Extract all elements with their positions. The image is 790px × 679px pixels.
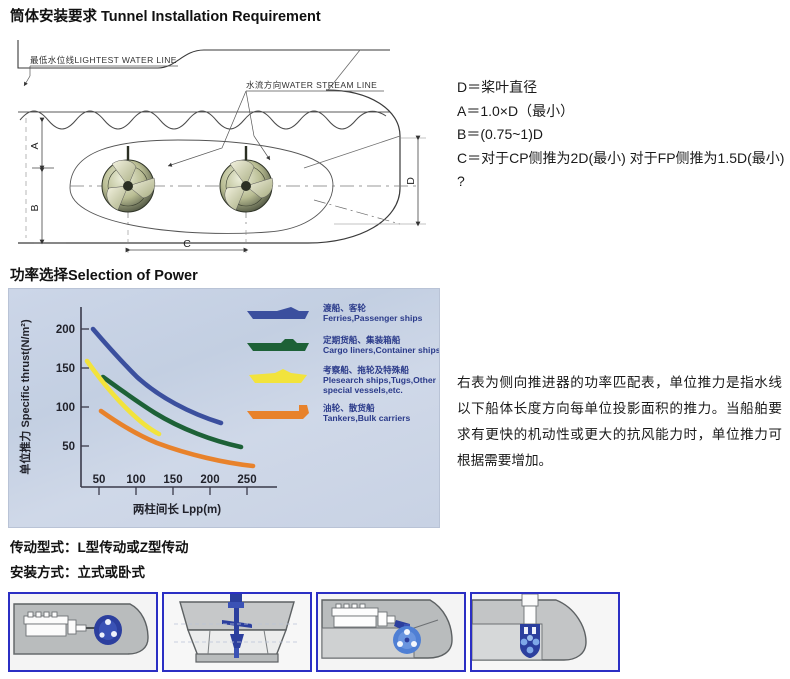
- installation-thumbnail-row: [8, 592, 620, 672]
- label-water-stream-line: 水流方向WATER STREAM LINE: [246, 80, 377, 90]
- formula-a: A＝1.0×D（最小）: [457, 100, 787, 124]
- formula-question: ?: [457, 170, 787, 194]
- page-title-selection-of-power: 功率选择Selection of Power: [10, 264, 198, 285]
- dimension-label-a: A: [29, 142, 41, 149]
- formula-c: C＝对于CP侧推为2D(最小) 对于FP侧推为1.5D(最小): [457, 147, 787, 171]
- label-lightest-water-line: 最低水位线LIGHTEST WATER LINE: [30, 55, 177, 65]
- chart-series-ferries-passenger: [93, 329, 221, 423]
- dimension-label-b: B: [29, 204, 41, 211]
- chart-legend: 渡船、客轮 Ferries,Passenger ships 定期货船、集装箱船 …: [247, 302, 440, 423]
- chart-xtick-150: 150: [163, 474, 182, 486]
- legend-label-en-3b: special vessels,etc.: [323, 385, 403, 395]
- chart-ytick-50: 50: [62, 441, 75, 453]
- thumbnail-vertical-z-drive-section[interactable]: [162, 592, 312, 672]
- legend-item-research-tugs: 考察船、拖轮及特殊船 Plesearch ships,Tugs,Other sp…: [249, 364, 437, 395]
- chart-x-axis-label: 两柱间长 Lpp(m): [133, 502, 221, 516]
- legend-label-en-2: Cargo liners,Container ships: [323, 345, 440, 355]
- legend-item-cargo-container: 定期货船、集装箱船 Cargo liners,Container ships: [247, 334, 440, 355]
- thumbnail-horizontal-l-drive-bow-thruster[interactable]: [8, 592, 158, 672]
- thumbnail-horizontal-engine-angled-drive[interactable]: [316, 592, 466, 672]
- specific-thrust-chart: 200 150 100 50 单位推力 Specific thrust(N/m²…: [8, 288, 440, 528]
- legend-label-en-3: Plesearch ships,Tugs,Other: [323, 375, 437, 385]
- legend-label-cn-2: 定期货船、集装箱船: [323, 334, 401, 345]
- page-title-tunnel-installation: 筒体安装要求 Tunnel Installation Requirement: [10, 5, 321, 26]
- legend-label-en-4: Tankers,Bulk carriers: [323, 413, 410, 423]
- chart-ytick-200: 200: [56, 324, 75, 336]
- chart-series-tankers-bulk: [101, 411, 253, 466]
- dimension-label-c: C: [183, 238, 191, 250]
- chart-ytick-150: 150: [56, 363, 75, 375]
- formula-d: D＝桨叶直径: [457, 76, 787, 100]
- thumbnail-vertical-mounted-thruster[interactable]: [470, 592, 620, 672]
- chart-y-axis-label: 单位推力 Specific thrust(N/m²): [18, 319, 32, 475]
- thruster-propeller-left: [102, 146, 155, 212]
- document-page: 筒体安装要求 Tunnel Installation Requirement: [0, 0, 790, 679]
- chart-xtick-100: 100: [126, 474, 145, 486]
- legend-label-cn-3: 考察船、拖轮及特殊船: [323, 364, 409, 375]
- legend-label-cn-4: 油轮、散货船: [323, 402, 375, 413]
- spec-mounting-type: 安装方式：立式或卧式: [10, 561, 145, 581]
- thruster-propeller-right: [220, 146, 273, 212]
- formula-b: B＝(0.75~1)D: [457, 123, 787, 147]
- chart-series-cargo-container: [103, 377, 241, 447]
- tunnel-installation-drawing: 最低水位线LIGHTEST WATER LINE 水流方向WATER STREA…: [8, 28, 448, 256]
- dimension-label-d: D: [405, 177, 417, 185]
- installation-formula-list: D＝桨叶直径 A＝1.0×D（最小） B＝(0.75~1)D C＝对于CP侧推为…: [457, 76, 787, 194]
- chart-xtick-50: 50: [93, 474, 106, 486]
- legend-item-tankers-bulk: 油轮、散货船 Tankers,Bulk carriers: [247, 402, 410, 423]
- ship-silhouette-icon: [247, 339, 309, 351]
- legend-item-ferries-passenger: 渡船、客轮 Ferries,Passenger ships: [247, 302, 423, 323]
- ship-silhouette-icon: [249, 369, 307, 383]
- chart-xtick-200: 200: [200, 474, 219, 486]
- power-selection-description: 右表为侧向推进器的功率匹配表，单位推力是指水线以下船体长度方向每单位投影面积的推…: [457, 370, 782, 474]
- legend-label-cn-1: 渡船、客轮: [323, 302, 366, 313]
- chart-xtick-250: 250: [237, 474, 256, 486]
- chart-ytick-100: 100: [56, 402, 75, 414]
- legend-label-en-1: Ferries,Passenger ships: [323, 313, 423, 323]
- spec-drive-type: 传动型式：L型传动或Z型传动: [10, 536, 189, 556]
- ship-silhouette-icon: [247, 307, 309, 319]
- ship-silhouette-icon: [247, 405, 309, 419]
